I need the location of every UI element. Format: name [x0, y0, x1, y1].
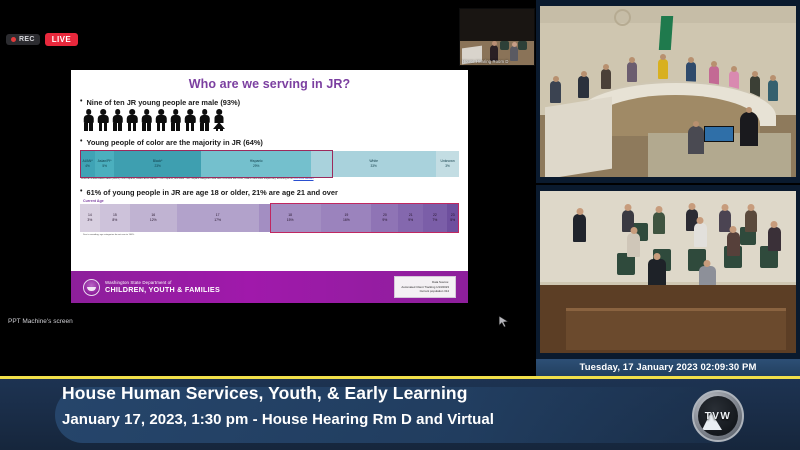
race-footnote-link[interactable]: OFM 2020 standard	[293, 178, 313, 180]
race-segment-value: 33%	[370, 164, 376, 168]
person-male-icon	[111, 109, 124, 131]
podium	[545, 96, 612, 177]
hearing-subtitle: January 17, 2023, 1:30 pm - House Hearin…	[62, 411, 494, 428]
race-stacked-bar: AI/AN* 4% Asian/PI* 5% Black* 23% Hispan…	[80, 151, 459, 177]
race-segment: Hispanic 29%	[201, 151, 311, 177]
age-segment: 15 8%	[100, 204, 130, 232]
person-male-icon	[97, 109, 110, 131]
race-segment-value: 5%	[102, 164, 107, 168]
audience-person	[694, 223, 707, 247]
age-segment: 20 9%	[371, 204, 398, 232]
slide-title: Who are we serving in JR?	[71, 77, 468, 91]
age-segment: 16 12%	[130, 204, 176, 232]
agency-line1: Washington State Department of	[105, 280, 220, 285]
person-male-icon	[126, 109, 139, 131]
age-segment-value: 17%	[214, 218, 221, 223]
slide-bullet-race: • Young people of color are the majority…	[71, 138, 468, 147]
presentation-slide: Who are we serving in JR? • Nine of ten …	[71, 70, 468, 303]
audience-person	[745, 210, 757, 232]
gender-pictogram	[71, 109, 468, 131]
person-male-icon	[140, 109, 153, 131]
committee-member	[601, 69, 611, 89]
thumbnail-person	[510, 46, 518, 61]
person-female-icon	[213, 109, 226, 131]
thumbnail-chair	[500, 41, 509, 50]
bullet-dot-icon: •	[80, 138, 82, 147]
record-dot-icon	[11, 37, 16, 42]
age-segment: 23 5%	[447, 204, 460, 232]
thumbnail-chair	[518, 41, 527, 50]
age-segment-value: 8%	[112, 218, 117, 223]
race-segment-value: 4%	[85, 164, 90, 168]
pointer-arrow-icon	[497, 315, 510, 328]
audience-person	[573, 214, 586, 242]
camera-bottom-image	[540, 191, 796, 353]
age-segment-value: 5%	[450, 218, 455, 223]
person-male-icon	[82, 109, 95, 131]
audience-person	[653, 212, 665, 234]
race-segment: Asian/PI* 5%	[95, 151, 114, 177]
staff-person	[740, 112, 758, 146]
committee-member	[658, 59, 668, 79]
slide-footer: Washington State Department of CHILDREN,…	[71, 271, 468, 303]
data-source-line3: Current population 314	[401, 289, 449, 293]
bullet-text: Young people of color are the majority i…	[86, 138, 262, 147]
dcyf-seal-icon	[83, 279, 100, 296]
agency-line2: CHILDREN, YOUTH & FAMILIES	[105, 285, 220, 294]
age-segment-value: 15%	[287, 218, 294, 223]
age-segment: 18 15%	[259, 204, 322, 232]
race-segment-value: 29%	[253, 164, 259, 168]
screen-share-panel: REC LIVE House Hearing Room D Who are we…	[0, 0, 536, 360]
bullet-dot-icon: •	[80, 188, 82, 197]
recording-controls: REC LIVE	[6, 33, 78, 46]
committee-member	[550, 81, 561, 103]
age-segment-value: 3%	[87, 218, 92, 223]
committee-member	[768, 80, 778, 101]
committee-member	[686, 62, 696, 82]
age-segment: 21 9%	[398, 204, 423, 232]
witness-bench	[566, 308, 786, 350]
age-chart: 14 3% 15 8% 16 12% 17 17%	[80, 204, 459, 232]
person-male-icon	[198, 109, 211, 131]
age-segment: 22 7%	[423, 204, 446, 232]
tvw-logo-text: TVW	[705, 411, 731, 422]
rec-button[interactable]: REC	[6, 34, 40, 45]
slide-bullet-age: • 61% of young people in JR are age 18 o…	[71, 188, 468, 197]
agency-name: Washington State Department of CHILDREN,…	[105, 280, 220, 295]
race-chart: AI/AN* 4% Asian/PI* 5% Black* 23% Hispan…	[80, 151, 459, 177]
tvw-logo: TVW	[692, 390, 744, 442]
person-male-icon	[184, 109, 197, 131]
audience-person	[727, 232, 740, 256]
rec-label: REC	[19, 36, 35, 43]
bullet-text: 61% of young people in JR are age 18 or …	[86, 188, 337, 197]
thumbnail-room-label: House Hearing Room D	[462, 59, 508, 64]
age-segment-value: 12%	[150, 218, 157, 223]
tvw-broadcast-screen: REC LIVE House Hearing Room D Who are we…	[0, 0, 800, 450]
camera-feed-hearing-room[interactable]	[536, 0, 800, 183]
live-badge: LIVE	[45, 33, 78, 46]
committee-member	[578, 76, 589, 98]
slide-bullet-gender: • Nine of ten JR young people are male (…	[71, 98, 468, 107]
share-thumbnail-video[interactable]: House Hearing Room D	[459, 8, 535, 66]
age-segment-value: 16%	[343, 218, 350, 223]
audience-person	[768, 227, 781, 251]
audience-person	[627, 233, 640, 257]
race-segment-value: 3%	[445, 164, 450, 168]
race-segment: Unknown 3%	[436, 151, 459, 177]
bullet-text: Nine of ten JR young people are male (93…	[86, 98, 240, 107]
race-segment: AI/AN* 4%	[80, 151, 95, 177]
person-male-icon	[155, 109, 168, 131]
hearing-title: House Human Services, Youth, & Early Lea…	[62, 383, 468, 404]
camera-feed-testimony[interactable]	[536, 185, 800, 359]
committee-member	[627, 62, 637, 82]
race-footnote-text: *American Indian/Alaska Native (AI/AN) -…	[80, 178, 293, 180]
age-chart-caption: Current Age	[83, 199, 468, 203]
thumbnail-wall	[460, 9, 534, 44]
data-source-box: Data Source: Automated Client Tracking 1…	[394, 276, 456, 297]
race-footnote: *American Indian/Alaska Native (AI/AN) -…	[80, 178, 459, 181]
person-male-icon	[169, 109, 182, 131]
age-segment-value: 7%	[432, 218, 437, 223]
screen-share-label: PPT Machine's screen	[8, 318, 73, 325]
race-segment-value: 23%	[154, 164, 160, 168]
age-segment-value: 9%	[382, 218, 387, 223]
race-segment: White 33%	[311, 151, 436, 177]
age-segment: 19 16%	[321, 204, 371, 232]
age-segment: 14 3%	[80, 204, 100, 232]
age-footnote: Due to rounding, age categories do not s…	[83, 234, 468, 236]
timestamp-bar: Tuesday, 17 January 2023 02:09:30 PM	[536, 359, 800, 376]
laptop-screen	[704, 126, 734, 142]
bullet-dot-icon: •	[80, 98, 82, 107]
camera-top-image	[540, 6, 796, 177]
age-stacked-bar: 14 3% 15 8% 16 12% 17 17%	[80, 204, 459, 232]
race-segment: Black* 23%	[114, 151, 201, 177]
staff-person	[688, 126, 704, 154]
tvw-logo-inner: TVW	[698, 396, 738, 436]
age-segment-value: 9%	[408, 218, 413, 223]
age-segment: 17 17%	[177, 204, 259, 232]
